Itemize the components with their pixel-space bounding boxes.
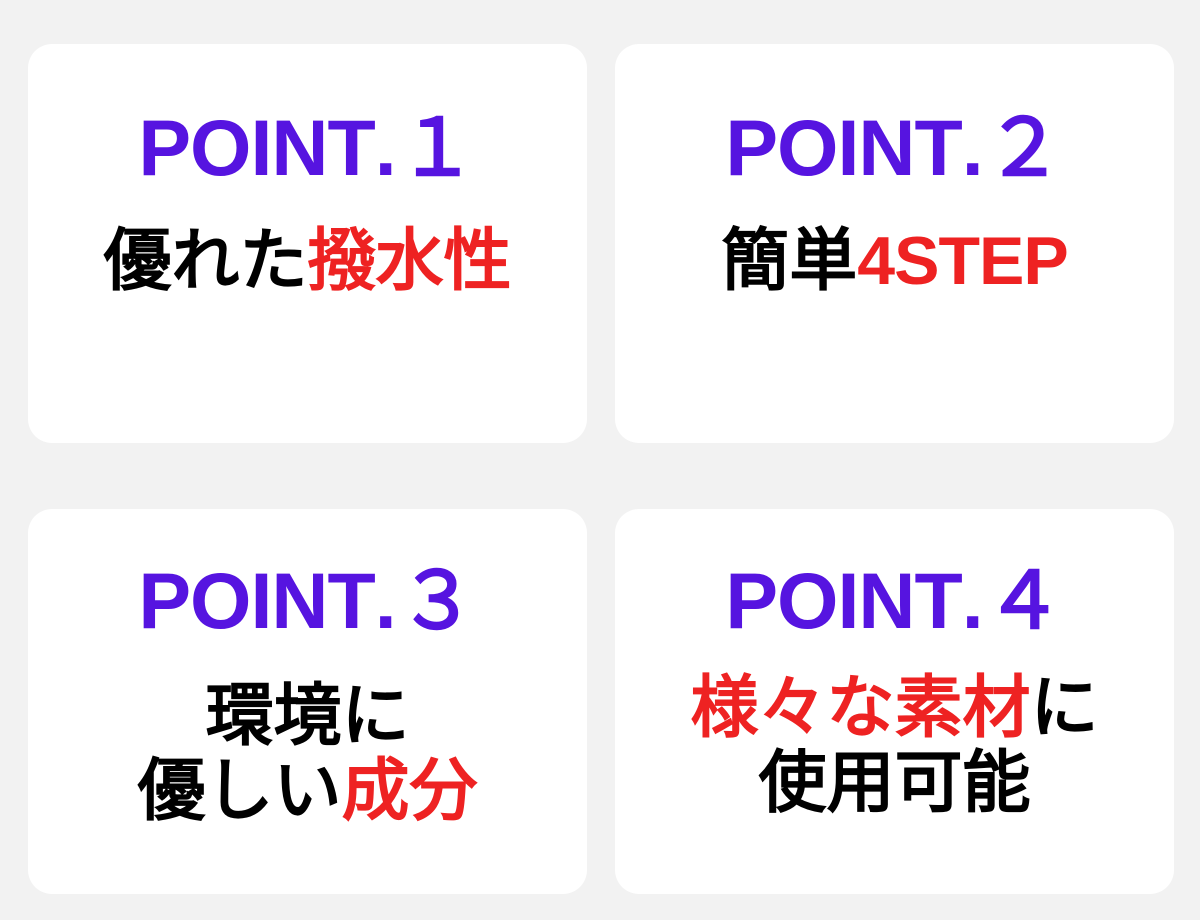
point-4-subtitle-line-1: 様々な素材に: [690, 671, 1098, 746]
point-2-subtitle: 簡単4STEP: [721, 224, 1067, 299]
point-2-heading-dot: .: [962, 103, 985, 192]
point-3-subtitle-seg-3-highlight: 成分: [342, 753, 478, 829]
point-4-subtitle-seg-1-highlight: 様々な素材: [690, 670, 1030, 746]
point-1-heading-dot: .: [375, 103, 398, 192]
point-3-heading-number: ３: [398, 555, 477, 647]
point-card-3: POINT.３ 環境に 優しい成分: [28, 509, 587, 894]
point-card-1: POINT.１ 優れた撥水性: [28, 44, 587, 443]
point-4-heading-word: POINT: [725, 556, 961, 645]
point-2-heading-number: ２: [985, 102, 1064, 194]
point-4-subtitle-seg-2: に: [1031, 670, 1099, 746]
point-4-heading-dot: .: [962, 556, 985, 645]
point-4-heading: POINT.４: [725, 561, 1063, 641]
point-3-heading-dot: .: [375, 556, 398, 645]
point-card-4: POINT.４ 様々な素材に 使用可能: [615, 509, 1174, 894]
point-3-subtitle-line-2: 優しい成分: [137, 754, 477, 829]
point-2-heading: POINT.２: [725, 108, 1063, 188]
point-cards-grid: POINT.１ 優れた撥水性 POINT.２ 簡単4STEP POINT.３ 環…: [0, 0, 1200, 920]
point-1-subtitle-line-1: 優れた撥水性: [103, 224, 511, 299]
point-4-subtitle-seg-3: 使用可能: [758, 745, 1030, 821]
point-2-subtitle-line-1: 簡単4STEP: [721, 224, 1067, 299]
point-2-subtitle-seg-1: 簡単: [721, 223, 857, 299]
point-4-subtitle-line-2: 使用可能: [690, 746, 1098, 821]
point-card-2: POINT.２ 簡単4STEP: [615, 44, 1174, 443]
point-1-heading-word: POINT: [138, 103, 374, 192]
point-3-subtitle-seg-1: 環境に: [205, 678, 409, 754]
point-3-heading: POINT.３: [138, 561, 476, 641]
point-1-heading-number: １: [398, 102, 477, 194]
point-4-subtitle: 様々な素材に 使用可能: [690, 671, 1098, 821]
point-1-subtitle-seg-1: 優れた: [103, 223, 307, 299]
point-2-heading-word: POINT: [725, 103, 961, 192]
point-3-subtitle-seg-2: 優しい: [137, 753, 341, 829]
point-1-heading: POINT.１: [138, 108, 476, 188]
point-1-subtitle: 優れた撥水性: [103, 224, 511, 299]
point-3-subtitle-line-1: 環境に: [137, 679, 477, 754]
point-1-subtitle-seg-2-highlight: 撥水性: [308, 223, 512, 299]
point-4-heading-number: ４: [985, 555, 1064, 647]
point-2-subtitle-seg-2-highlight: 4STEP: [857, 223, 1067, 299]
point-3-subtitle: 環境に 優しい成分: [137, 679, 477, 829]
point-3-heading-word: POINT: [138, 556, 374, 645]
